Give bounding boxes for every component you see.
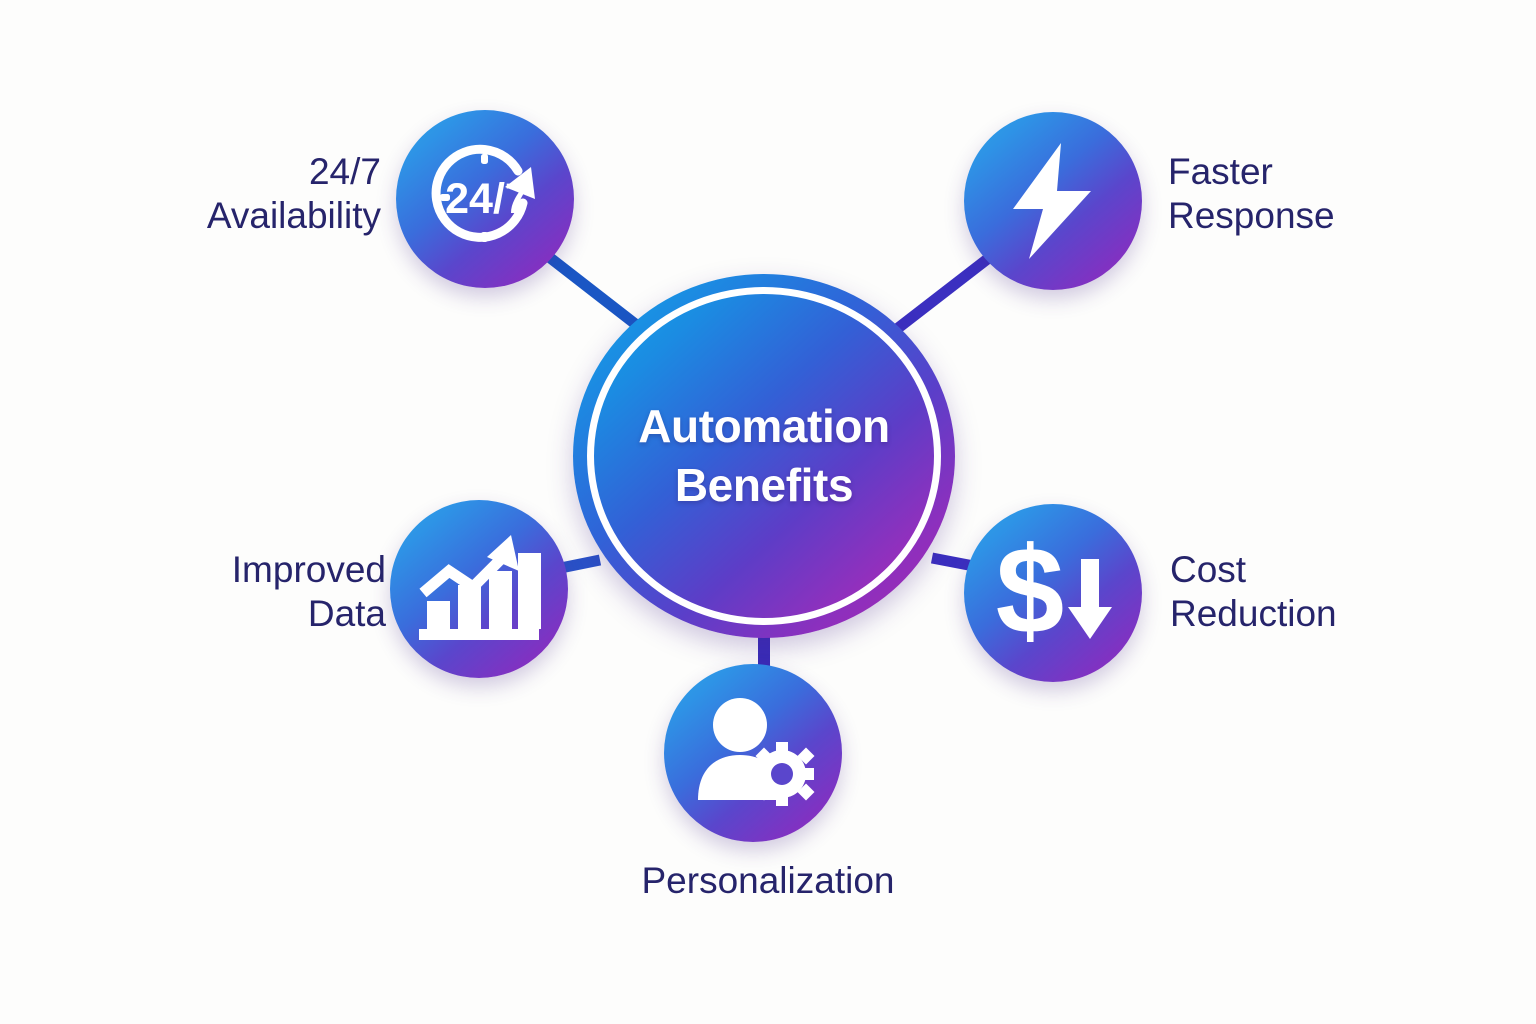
node-personalization[interactable] (664, 664, 842, 842)
diagram-canvas: Automation Benefits 24/7 $ (0, 0, 1536, 1024)
hub-circle[interactable]: Automation Benefits (573, 274, 955, 638)
node-improved-data[interactable] (390, 500, 568, 678)
label-availability: 24/7 Availability (121, 150, 381, 239)
label-cost-reduction: Cost Reduction (1170, 548, 1470, 637)
label-improved-data: Improved Data (106, 548, 386, 637)
label-personalization: Personalization (578, 859, 958, 903)
hub-title: Automation Benefits (573, 397, 955, 515)
node-faster-response[interactable] (964, 112, 1142, 290)
dollar-down-arrow-icon: $ (988, 533, 1118, 653)
lightning-bolt-icon (999, 139, 1107, 263)
user-gear-icon (690, 695, 816, 811)
clock-24-7-icon: 24/7 (423, 137, 547, 261)
svg-text:$: $ (996, 523, 1064, 660)
label-faster-response: Faster Response (1168, 150, 1468, 239)
clock-icon-text: 24/7 (445, 175, 529, 223)
node-cost-reduction[interactable]: $ (964, 504, 1142, 682)
node-availability[interactable]: 24/7 (396, 110, 574, 288)
bar-chart-growth-icon (415, 531, 543, 647)
